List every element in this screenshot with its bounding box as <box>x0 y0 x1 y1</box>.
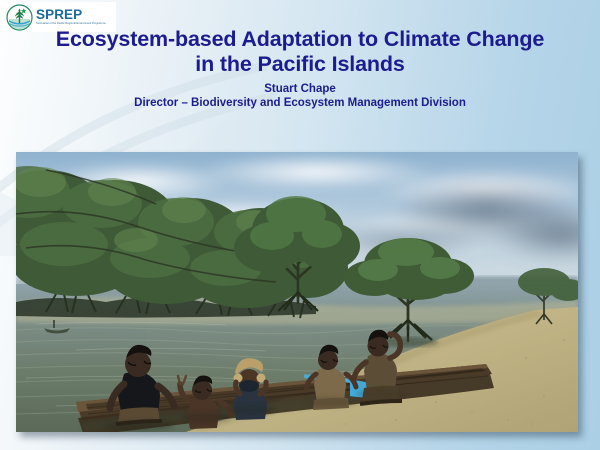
title-line-2: in the Pacific Islands <box>0 52 600 77</box>
title-line-1: Ecosystem-based Adaptation to Climate Ch… <box>0 27 600 52</box>
slide-canvas: SPREP Secretariat of the Pacific Regiona… <box>0 0 600 450</box>
title-photo <box>16 152 578 432</box>
slide-title: Ecosystem-based Adaptation to Climate Ch… <box>0 27 600 77</box>
mangrove-canoe-scene <box>16 152 578 432</box>
sprep-tagline: Secretariat of the Pacific Regional Envi… <box>36 22 112 26</box>
presenter-block: Stuart Chape Director – Biodiversity and… <box>0 82 600 111</box>
presenter-name: Stuart Chape <box>0 82 600 96</box>
presenter-role: Director – Biodiversity and Ecosystem Ma… <box>0 96 600 111</box>
sprep-logo-text: SPREP Secretariat of the Pacific Regiona… <box>36 8 112 26</box>
title-photo-image <box>16 152 578 432</box>
sprep-wordmark: SPREP <box>36 8 112 22</box>
